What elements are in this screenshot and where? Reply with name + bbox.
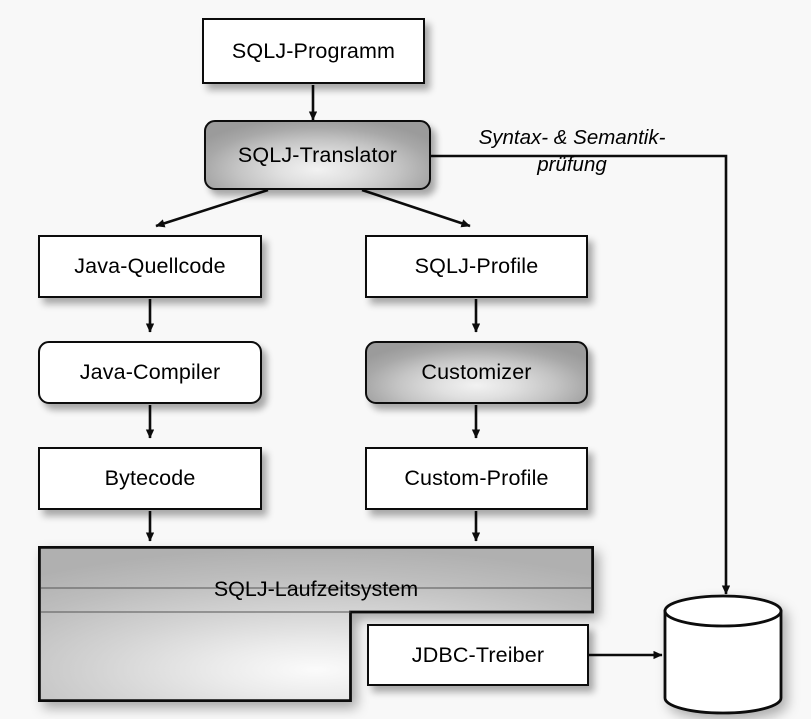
node-sqlj-profile[interactable]: SQLJ-Profile	[365, 235, 588, 298]
node-customizer[interactable]: Customizer	[365, 341, 588, 404]
diagram-canvas: SQLJ-Laufzeitsystem SQLJ-Programm SQLJ-T…	[0, 0, 811, 719]
database-cylinder	[660, 594, 788, 716]
edge-label-line-1: Syntax- & Semantik-	[442, 124, 702, 151]
node-sqlj-translator[interactable]: SQLJ-Translator	[204, 120, 431, 190]
node-jdbc-treiber[interactable]: JDBC-Treiber	[367, 624, 589, 686]
edge-label-line-2: prüfung	[442, 151, 702, 178]
node-sqlj-programm[interactable]: SQLJ-Programm	[202, 18, 425, 84]
node-java-quellcode[interactable]: Java-Quellcode	[38, 235, 262, 298]
node-bytecode[interactable]: Bytecode	[38, 447, 262, 510]
node-java-compiler[interactable]: Java-Compiler	[38, 341, 262, 404]
edge-translator-to-quellcode	[156, 190, 268, 226]
edge-label-syntax-semantik-pruefung: Syntax- & Semantik- prüfung	[442, 124, 702, 178]
node-custom-profile[interactable]: Custom-Profile	[365, 447, 588, 510]
edge-translator-to-profile	[362, 190, 470, 226]
